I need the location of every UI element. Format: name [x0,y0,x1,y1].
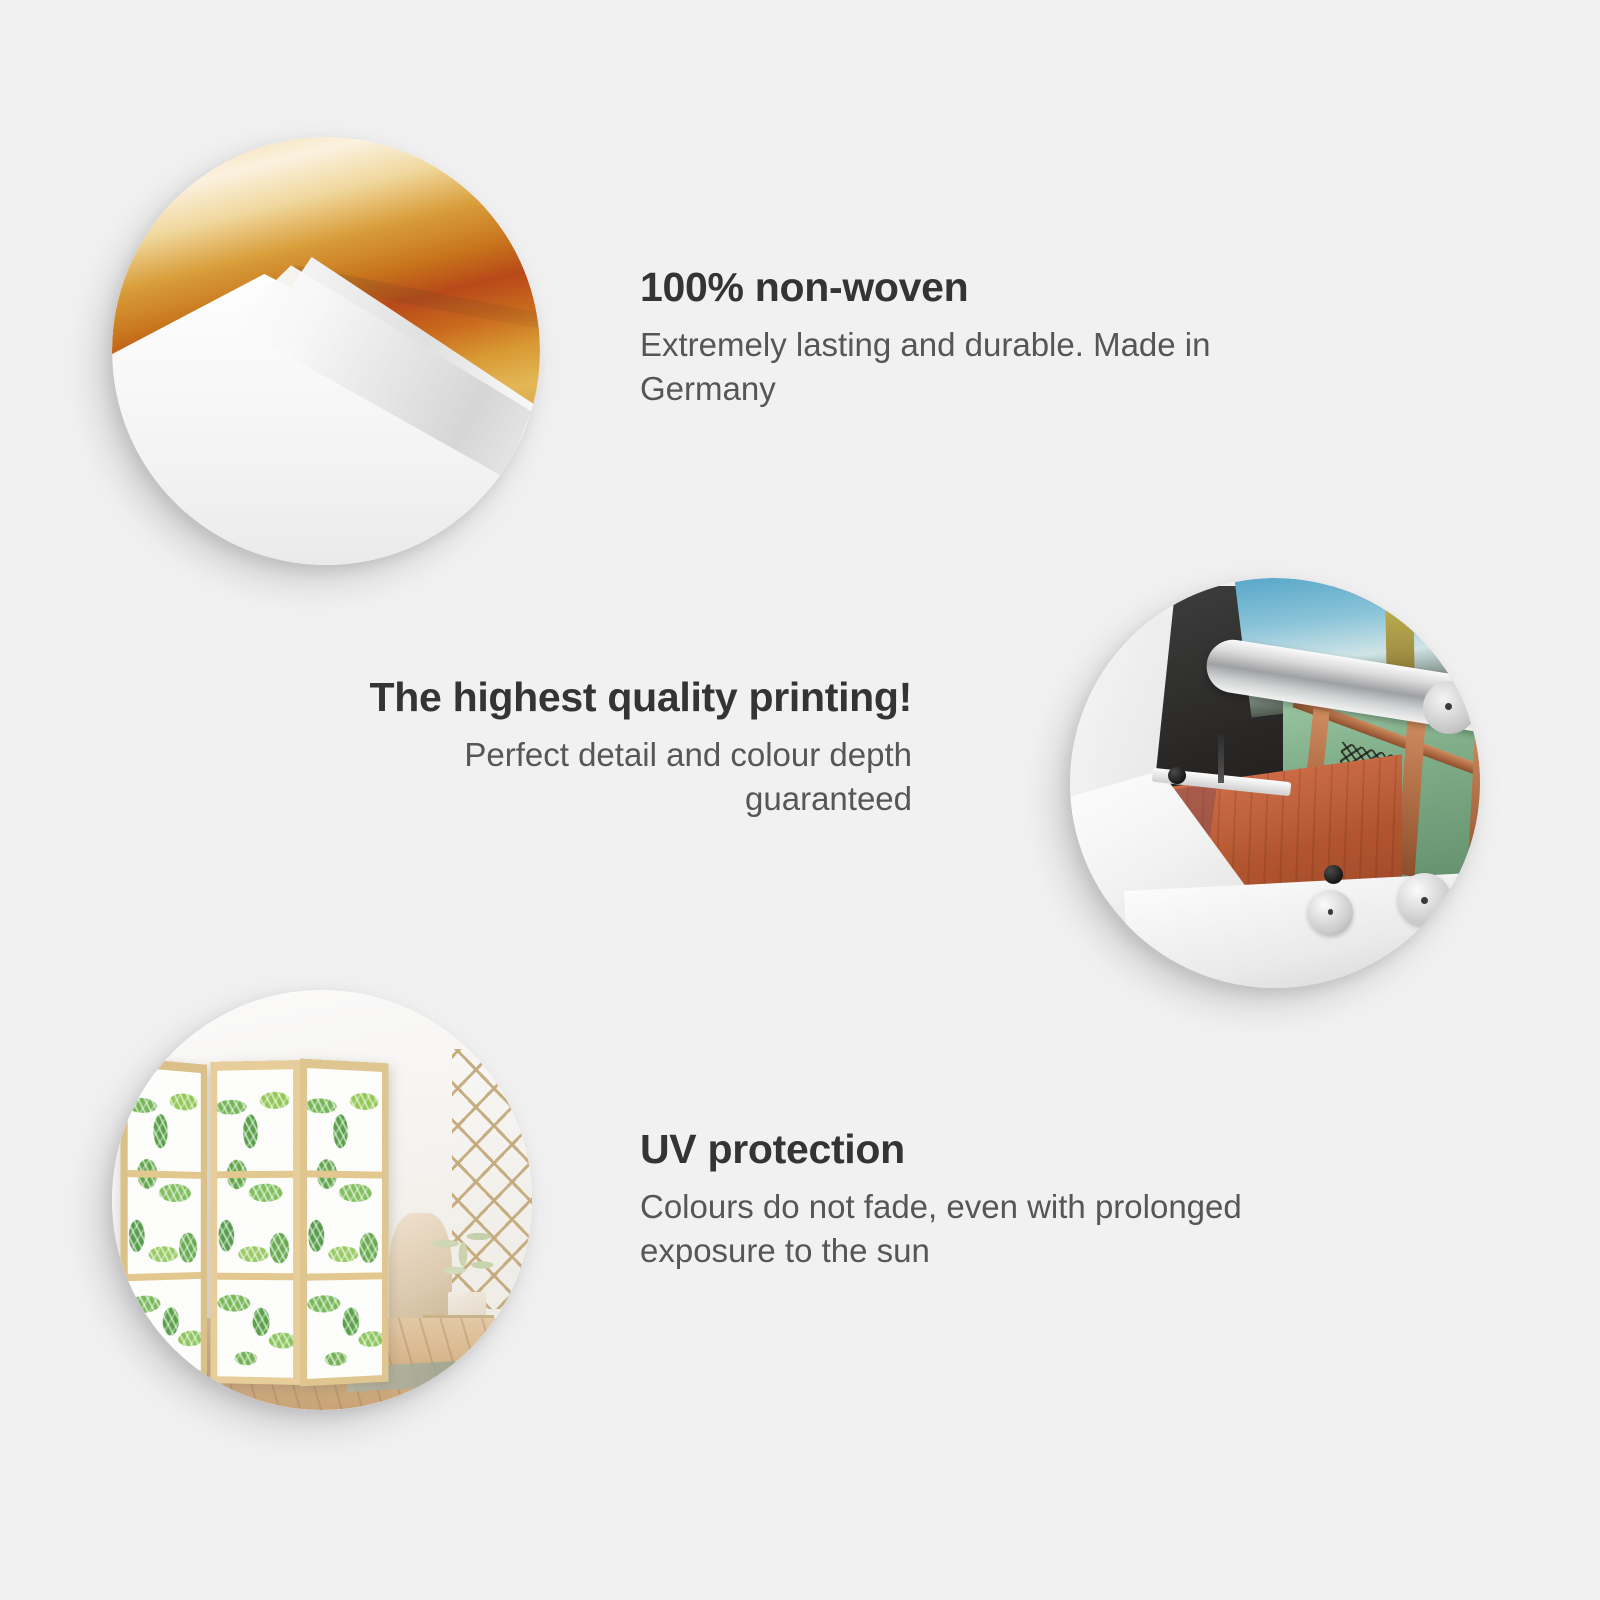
infographic-canvas: 100% non-woven Extremely lasting and dur… [0,0,1600,1600]
printing-press-photo [1070,578,1480,988]
panel-crossbar [217,1273,292,1281]
printer-knob [1168,767,1185,784]
feature-text-uv-protection: UV protection Colours do not fade, even … [640,1128,1260,1273]
feature-text-non-woven: 100% non-woven Extremely lasting and dur… [640,266,1320,411]
printer-roller-wheel [1308,890,1353,935]
tropical-room-photo [112,990,532,1410]
screen-panel [300,1059,388,1387]
monstera-leaf-pattern [128,1067,201,1381]
roller-end-cap [1423,681,1476,734]
monstera-leaf-pattern [307,1068,381,1379]
non-woven-photo [112,137,540,565]
printer-knob [1324,865,1343,884]
feature-heading-non-woven: 100% non-woven [640,266,1320,309]
feature-image-uv-protection [112,990,532,1410]
printer-post [1218,734,1225,783]
feature-heading-printing: The highest quality printing! [300,676,912,719]
feature-body-non-woven: Extremely lasting and durable. Made in G… [640,323,1320,411]
feature-text-printing: The highest quality printing! Perfect de… [300,676,912,821]
feature-image-printing [1070,578,1480,988]
screen-panel [210,1060,299,1385]
monstera-leaf-pattern [217,1070,292,1379]
feature-image-non-woven [112,137,540,565]
wallpaper-peel-group [112,137,540,565]
screen-panel [121,1057,207,1388]
potted-palm-leaves [419,1208,507,1296]
feature-body-uv-protection: Colours do not fade, even with prolonged… [640,1185,1260,1273]
panel-crossbar [217,1172,292,1179]
feature-heading-uv-protection: UV protection [640,1128,1260,1171]
feature-body-printing: Perfect detail and colour depth guarante… [300,733,912,821]
tropical-folding-screen [120,1061,389,1384]
printed-railing [1467,726,1480,894]
